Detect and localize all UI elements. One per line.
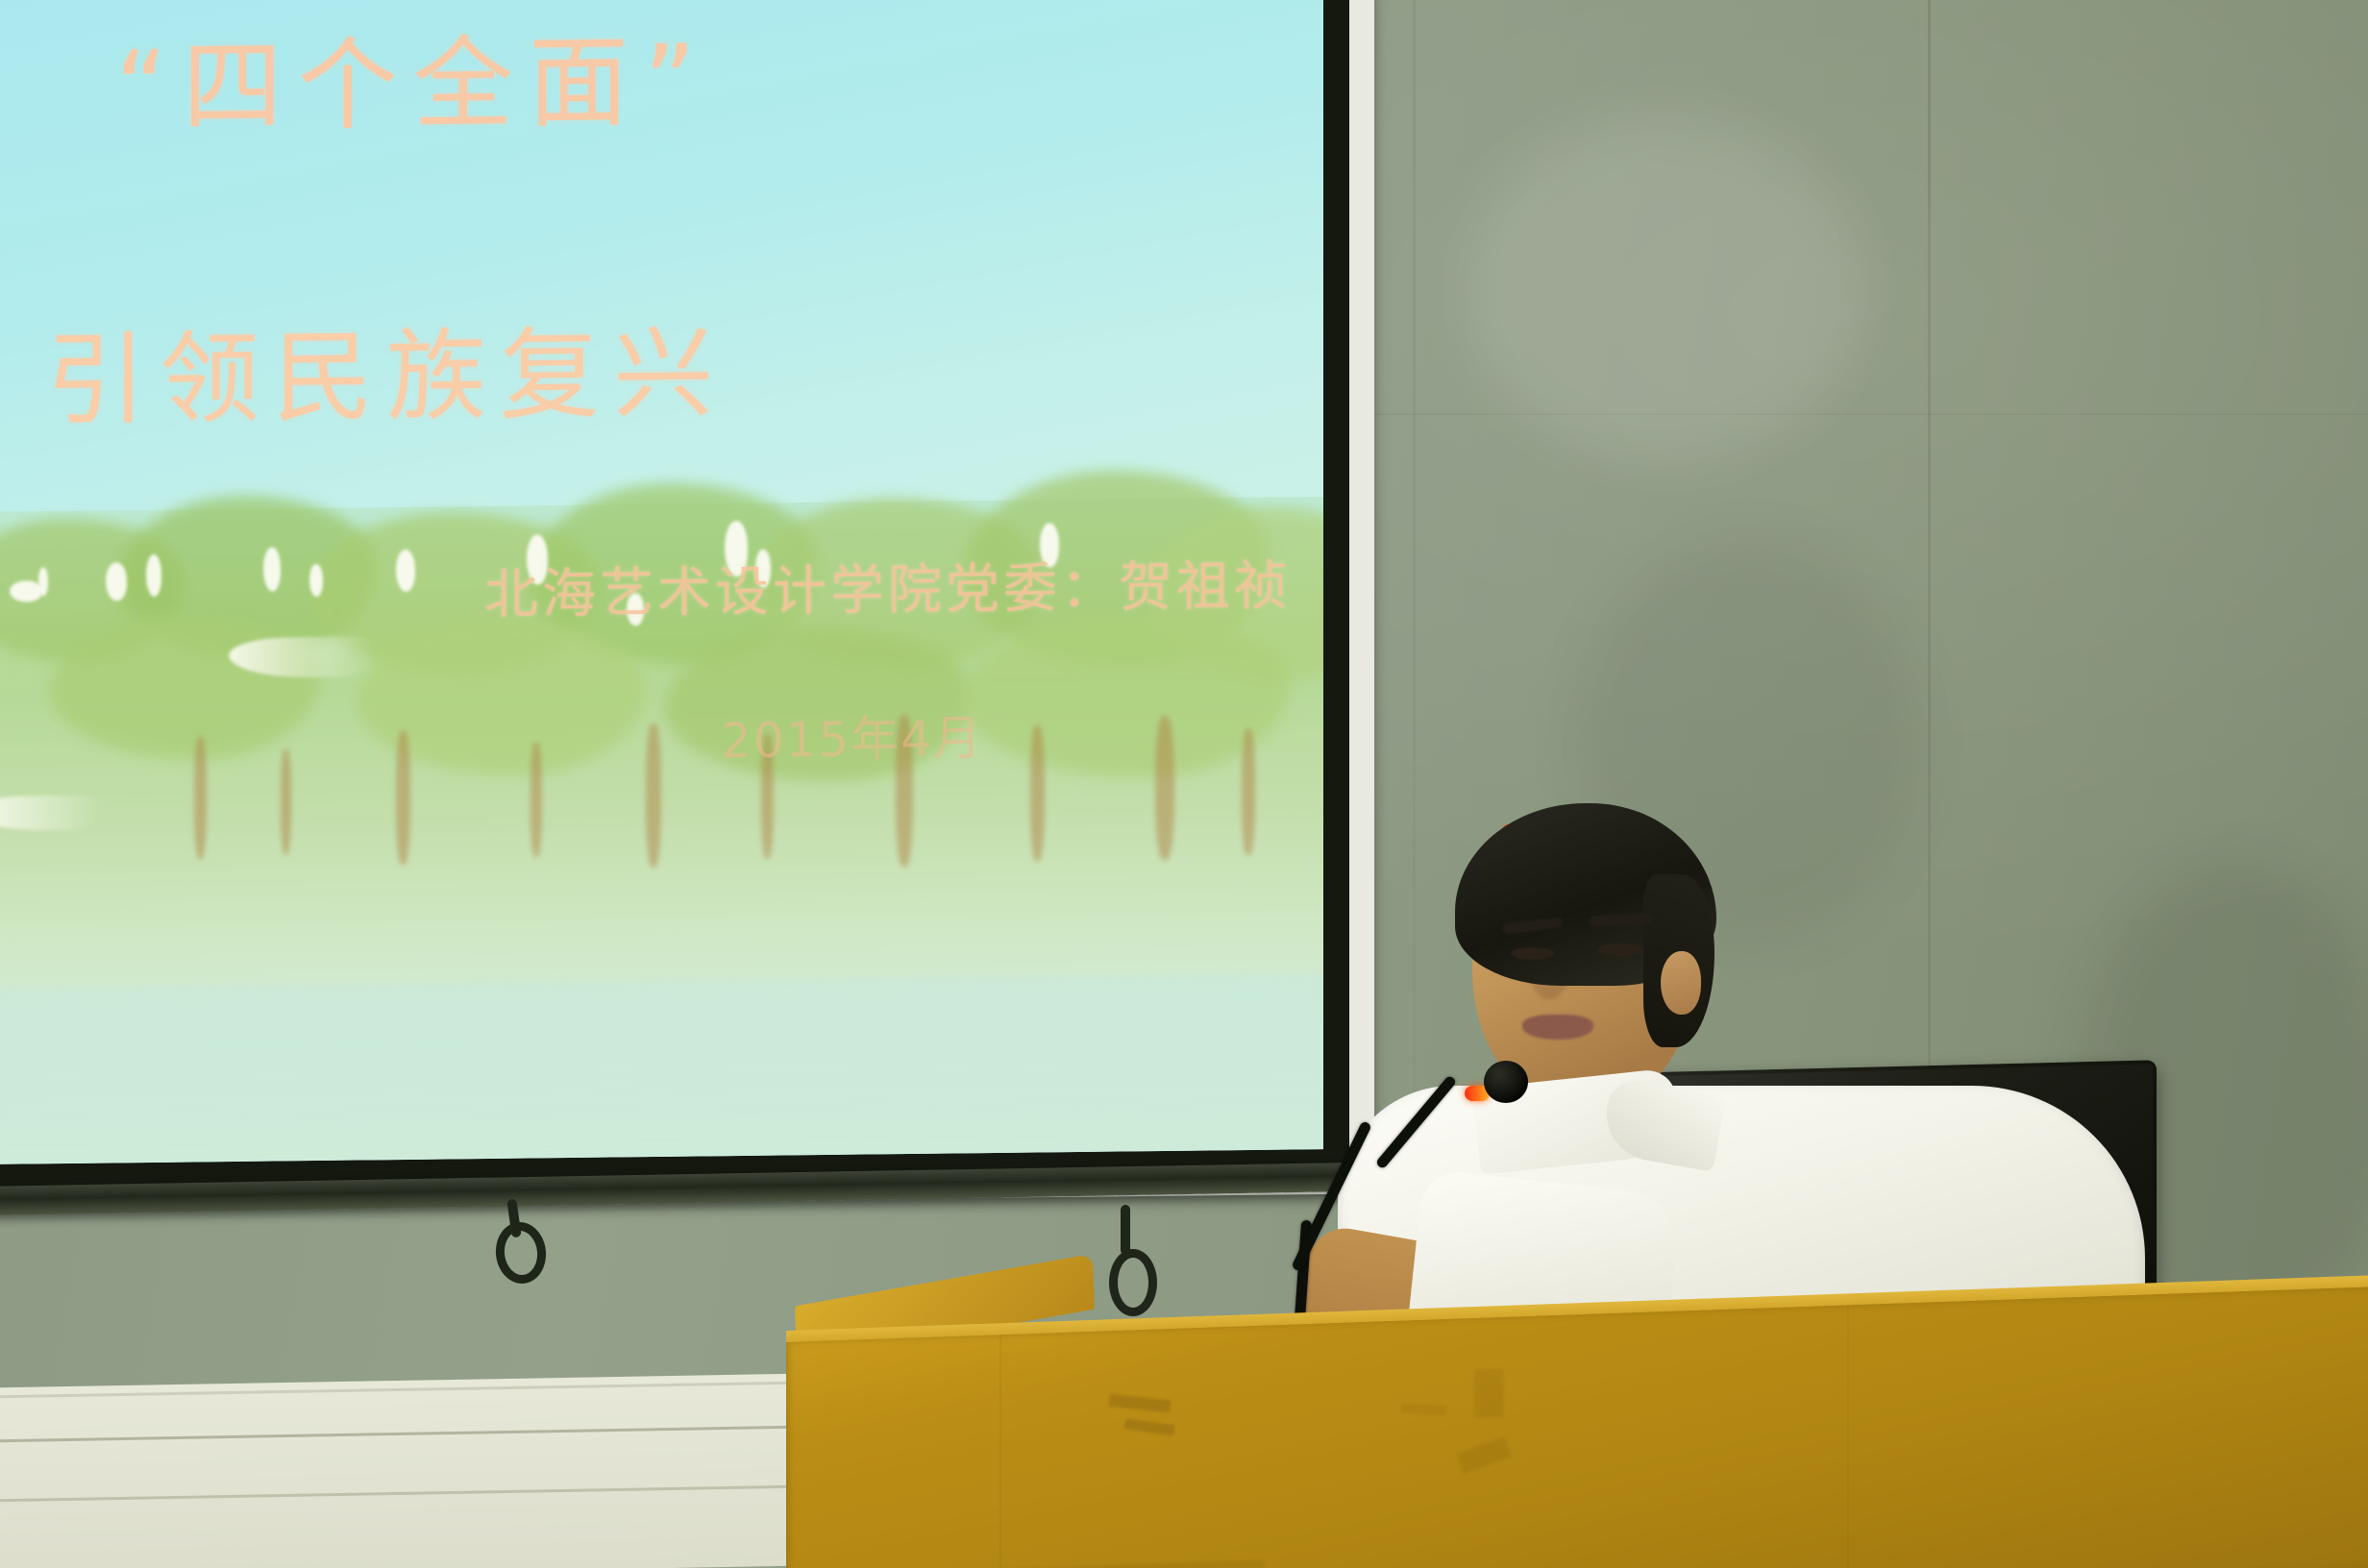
projection-screen: “四个全面” 引领民族复兴 北海艺术设计学院党委：贺祖祯 2015年4月 [0, 0, 1374, 1201]
slide-date-line: 2015年4月 [721, 699, 983, 772]
slide-title-line-1: “四个全面” [115, 0, 711, 151]
speaker-eye-right [1597, 943, 1643, 956]
projected-slide: “四个全面” 引领民族复兴 北海艺术设计学院党委：贺祖祯 2015年4月 [0, 0, 1323, 1164]
slide-title-line-2: 引领民族复兴 [46, 291, 727, 444]
slide-author-line: 北海艺术设计学院党委：贺祖祯 [484, 543, 1292, 630]
lecture-hall-photo: “四个全面” 引领民族复兴 北海艺术设计学院党委：贺祖祯 2015年4月 [0, 0, 2368, 1568]
lower-wall-panel [0, 1372, 913, 1568]
wall-stain [1461, 115, 1864, 461]
wall-hook-right-stem [1121, 1205, 1130, 1255]
microphone-capsule[interactable] [1484, 1061, 1528, 1103]
slide-text-block: “四个全面” 引领民族复兴 北海艺术设计学院党委：贺祖祯 2015年4月 [0, 0, 1323, 1164]
wall-hook-right [1109, 1249, 1157, 1316]
speaker-eye-left [1511, 947, 1555, 960]
speaker-ear [1661, 951, 1701, 1015]
speaker-mouth [1522, 1015, 1593, 1040]
